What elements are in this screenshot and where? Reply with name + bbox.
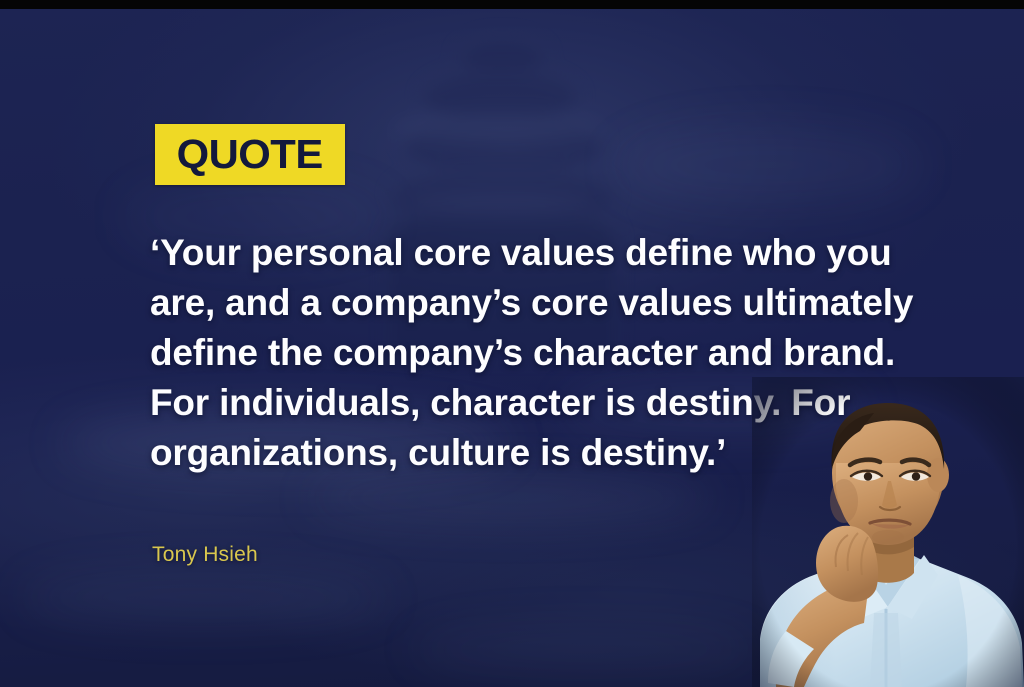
quote-badge-label: QUOTE (177, 134, 323, 175)
quote-attribution: Tony Hsieh (152, 543, 258, 567)
top-letterbox-bar (0, 0, 1024, 9)
quote-poster: QUOTE ‘Your personal core values define … (0, 0, 1024, 687)
cloud-streak (410, 625, 758, 673)
quote-line: define the company’s character and brand… (150, 328, 880, 378)
quote-line: ‘Your personal core values define who yo… (150, 228, 880, 278)
cloud-streak (614, 124, 921, 206)
quote-line: are, and a company’s core values ultimat… (150, 278, 880, 328)
cloud-streak (20, 570, 389, 625)
portrait-illustration (752, 377, 1024, 687)
cloud-streak (307, 474, 717, 522)
quote-badge: QUOTE (155, 124, 345, 185)
portrait-photo (752, 377, 1024, 687)
